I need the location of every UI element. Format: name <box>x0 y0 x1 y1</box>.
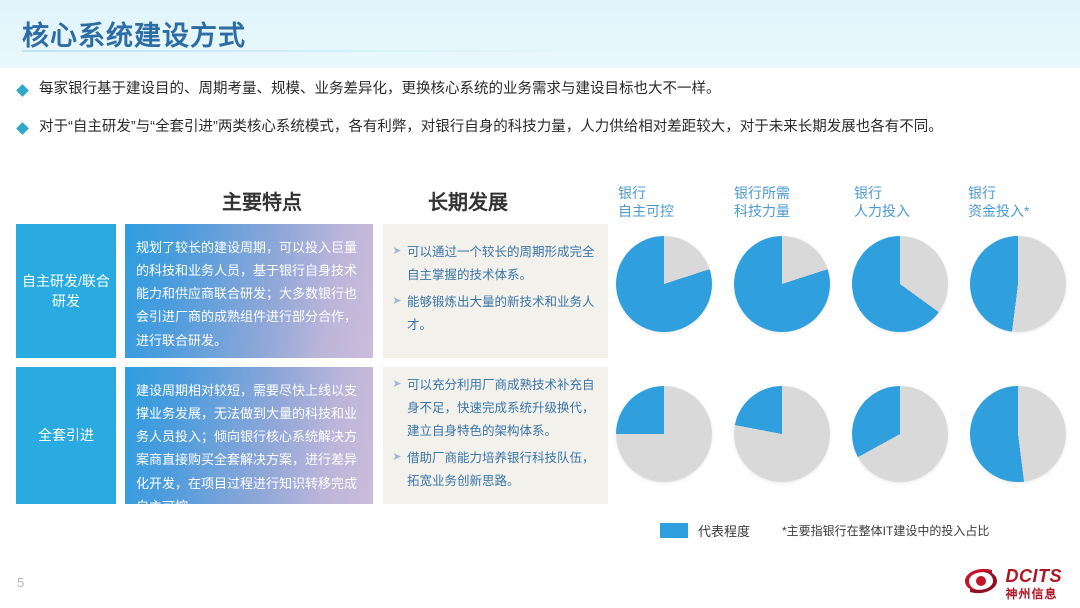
pie-r0-c2 <box>852 236 948 332</box>
pie-column-headers: 银行 自主可控 银行所需 科技力量 银行 人力投入 银行 资金投入* <box>612 184 1080 236</box>
column-heading-longterm: 长期发展 <box>428 186 508 215</box>
row-label-cell: 自主研发/联合研发 <box>16 224 116 358</box>
pie-r0-c1 <box>734 236 830 332</box>
pie-grid <box>612 236 1080 498</box>
list-item: ➤ 借助厂商能力培养银行科技队伍，拓宽业务创新思路。 <box>389 447 600 493</box>
arrow-bullet-icon: ➤ <box>389 374 405 394</box>
list-item: ➤ 可以通过一个较长的周期形成完全自主掌握的技术体系。 <box>389 241 600 287</box>
legend-label: 代表程度 <box>698 521 750 540</box>
longterm-text: 可以通过一个较长的周期形成完全自主掌握的技术体系。 <box>407 241 600 287</box>
blue-swatch-icon <box>660 523 688 538</box>
row-label-cell: 全套引进 <box>16 367 116 504</box>
title-divider <box>22 50 582 52</box>
pie-r1-c0 <box>616 386 712 482</box>
pie-header-0: 银行 自主可控 <box>618 184 674 221</box>
diamond-bullet-icon <box>16 122 29 135</box>
pie-header-1: 银行所需 科技力量 <box>734 184 790 221</box>
bullet-list: 每家银行基于建设目的、周期考量、规模、业务差异化，更换核心系统的业务需求与建设目… <box>18 80 1068 156</box>
pie-row-fullimport <box>612 386 1080 498</box>
arrow-bullet-icon: ➤ <box>389 447 405 467</box>
bullet-text: 对于“自主研发”与“全套引进”两类核心系统模式，各有利弊，对银行自身的科技力量，… <box>39 118 943 137</box>
pie-chart-group: 银行 自主可控 银行所需 科技力量 银行 人力投入 银行 资金投入* <box>612 184 1080 498</box>
pie-r1-c1 <box>734 386 830 482</box>
pie-header-2: 银行 人力投入 <box>854 184 910 221</box>
legend-footnote: *主要指银行在整体IT建设中的投入占比 <box>782 522 989 539</box>
brand-logo: DCITS 神州信息 <box>962 566 1063 601</box>
diamond-bullet-icon <box>16 84 29 97</box>
longterm-text: 借助厂商能力培养银行科技队伍，拓宽业务创新思路。 <box>407 447 600 493</box>
list-item: 每家银行基于建设目的、周期考量、规模、业务差异化，更换核心系统的业务需求与建设目… <box>18 80 1068 99</box>
longterm-cell: ➤ 可以通过一个较长的周期形成完全自主掌握的技术体系。 ➤ 能够锻炼出大量的新技… <box>383 224 608 358</box>
list-item: 对于“自主研发”与“全套引进”两类核心系统模式，各有利弊，对银行自身的科技力量，… <box>18 118 1068 137</box>
page-number: 5 <box>17 575 24 590</box>
logo-text: DCITS 神州信息 <box>1006 567 1063 600</box>
logo-english: DCITS <box>1006 567 1063 585</box>
slide: 核心系统建设方式 每家银行基于建设目的、周期考量、规模、业务差异化，更换核心系统… <box>0 0 1080 608</box>
column-heading-features: 主要特点 <box>222 186 302 215</box>
list-item: ➤ 能够锻炼出大量的新技术和业务人才。 <box>389 291 600 337</box>
page-title: 核心系统建设方式 <box>22 14 246 53</box>
features-cell: 规划了较长的建设周期，可以投入巨量的科技和业务人员，基于银行自身技术能力和供应商… <box>125 224 373 358</box>
logo-chinese: 神州信息 <box>1006 588 1063 600</box>
list-item: ➤ 可以充分利用厂商成熟技术补充自身不足，快速完成系统升级换代，建立自身特色的架… <box>389 374 600 443</box>
arrow-bullet-icon: ➤ <box>389 241 405 261</box>
pie-r1-c3 <box>970 386 1066 482</box>
longterm-text: 可以充分利用厂商成熟技术补充自身不足，快速完成系统升级换代，建立自身特色的架构体… <box>407 374 600 443</box>
pie-row-independent <box>612 236 1080 348</box>
chart-legend: 代表程度 *主要指银行在整体IT建设中的投入占比 <box>660 521 989 540</box>
pie-header-3: 银行 资金投入* <box>968 184 1029 221</box>
bullet-text: 每家银行基于建设目的、周期考量、规模、业务差异化，更换核心系统的业务需求与建设目… <box>39 80 721 99</box>
longterm-text: 能够锻炼出大量的新技术和业务人才。 <box>407 291 600 337</box>
dcits-swirl-icon <box>962 566 1000 601</box>
pie-r1-c2 <box>852 386 948 482</box>
arrow-bullet-icon: ➤ <box>389 291 405 311</box>
features-cell: 建设周期相对较短，需要尽快上线以支撑业务发展，无法做到大量的科技和业务人员投入；… <box>125 367 373 504</box>
pie-r0-c0 <box>616 236 712 332</box>
longterm-cell: ➤ 可以充分利用厂商成熟技术补充自身不足，快速完成系统升级换代，建立自身特色的架… <box>383 367 608 504</box>
pie-r0-c3 <box>970 236 1066 332</box>
